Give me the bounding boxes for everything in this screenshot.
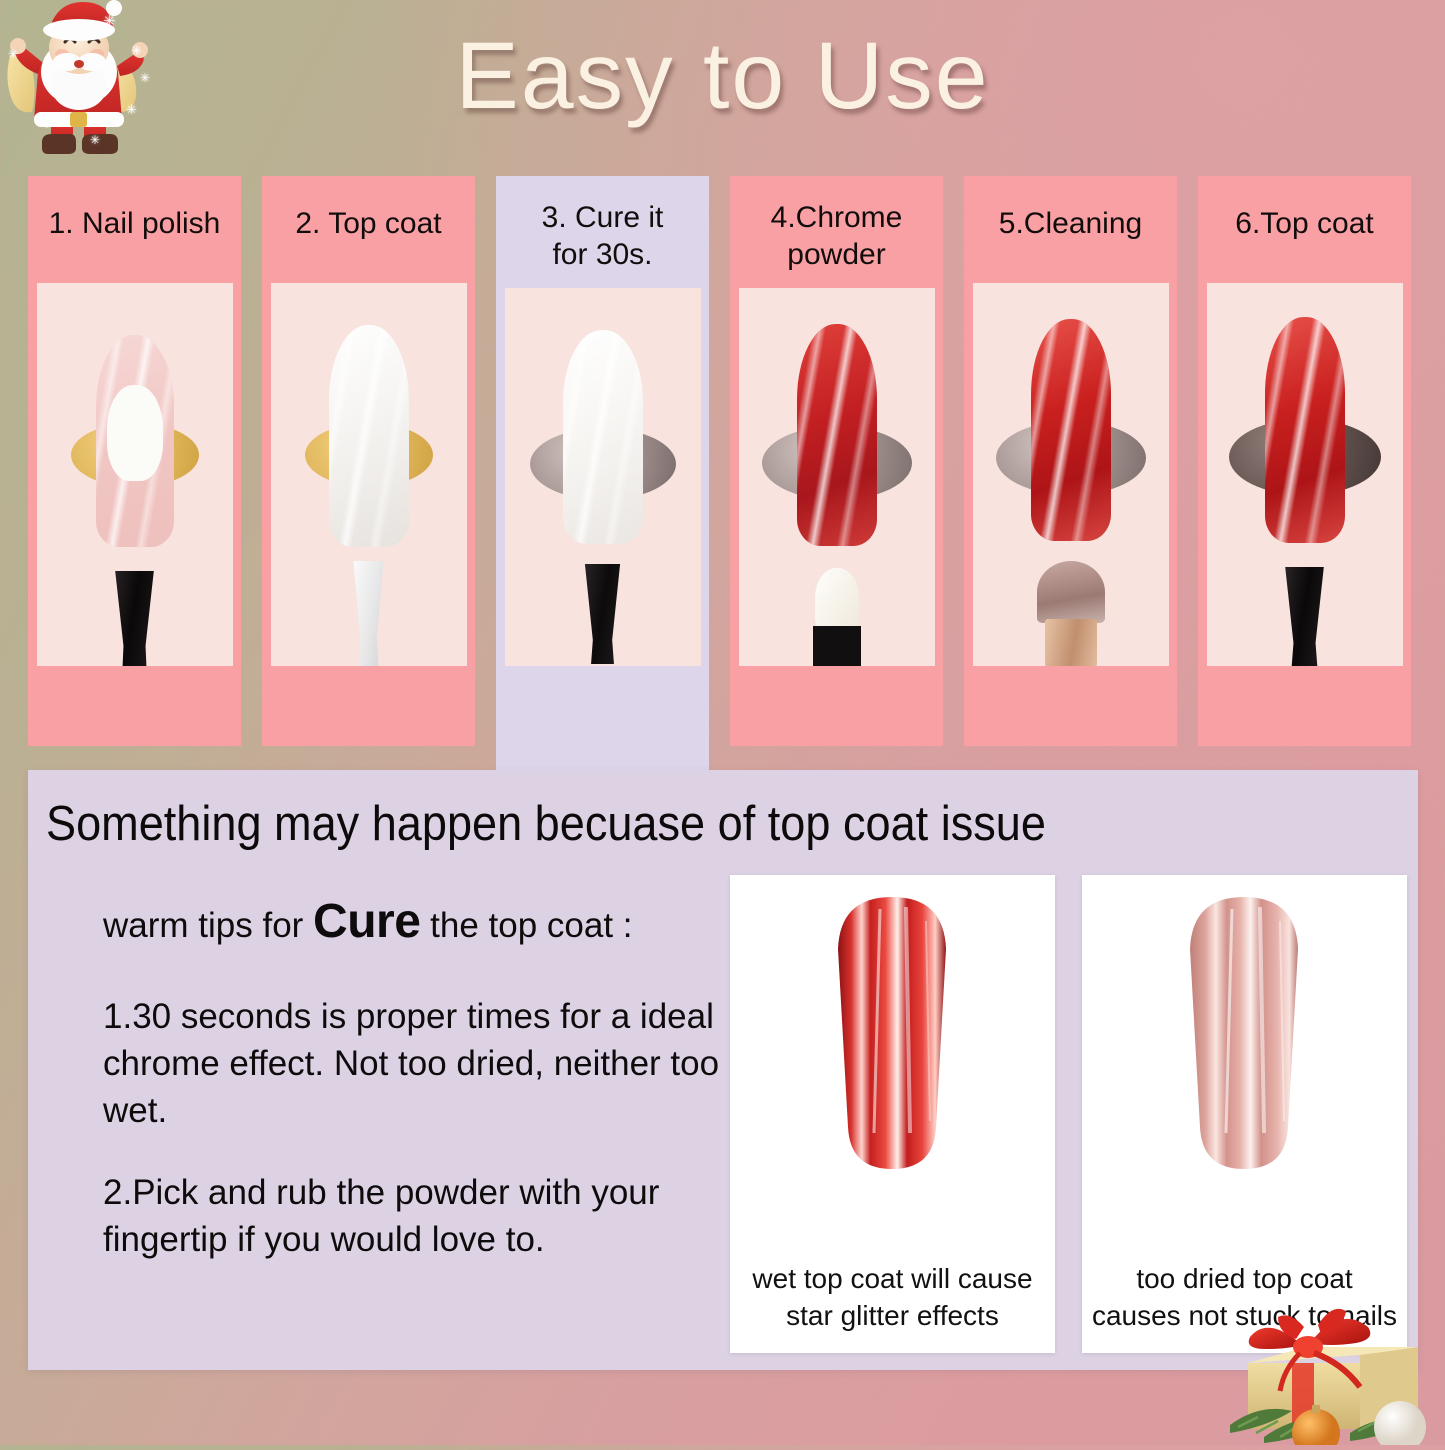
step-label: 6.Top coat: [1198, 176, 1411, 243]
step-card-3[interactable]: 3. Cure it for 30s.: [496, 176, 709, 770]
comparison-card-wet[interactable]: wet top coat will cause star glitter eff…: [730, 875, 1055, 1353]
step-label: 3. Cure it for 30s.: [496, 176, 709, 273]
nail-tip-icon: [1265, 317, 1345, 543]
tips-lead-after: the top coat :: [420, 906, 632, 945]
step-photo: [37, 283, 233, 666]
tip-item-2: 2.Pick and rub the powder with your fing…: [103, 1169, 723, 1264]
snowflake-icon: ✳: [90, 134, 100, 146]
step-label: 4.Chrome powder: [730, 176, 943, 273]
step-photo: [973, 283, 1169, 666]
powder-applicator-icon: [811, 568, 863, 666]
dusting-brush-icon: [1031, 561, 1111, 666]
tips-lead-before: warm tips for: [103, 906, 313, 945]
nail-tip-icon: [797, 324, 877, 546]
step-photo: [1207, 283, 1403, 666]
step-label: 5.Cleaning: [964, 176, 1177, 243]
comparison-caption: wet top coat will cause star glitter eff…: [730, 1261, 1055, 1335]
step-photo: [271, 283, 467, 666]
step-card-6[interactable]: 6.Top coat: [1198, 176, 1411, 746]
step-photo: [505, 288, 701, 666]
step-card-5[interactable]: 5.Cleaning: [964, 176, 1177, 746]
step-card-4[interactable]: 4.Chrome powder: [730, 176, 943, 746]
tips-block: warm tips for Cure the top coat : 1.30 s…: [103, 890, 723, 1297]
nail-tip-icon: [563, 330, 643, 544]
step-photo: [739, 288, 935, 666]
brush-handle-icon: [348, 561, 390, 666]
tip-item-1: 1.30 seconds is proper times for a ideal…: [103, 993, 723, 1135]
polish-brush-handle-icon: [1282, 567, 1328, 666]
top-coat-issue-panel: Something may happen becuase of top coat…: [28, 770, 1418, 1370]
nail-tip-icon: [329, 325, 409, 547]
tips-lead: warm tips for Cure the top coat :: [103, 890, 723, 955]
step-label: 2. Top coat: [262, 176, 475, 243]
step-card-2[interactable]: 2. Top coat: [262, 176, 475, 746]
steps-row: 1. Nail polish 2. Top coat 3. Cure it fo…: [28, 176, 1418, 770]
step-card-1[interactable]: 1. Nail polish: [28, 176, 241, 746]
brush-handle-icon: [581, 564, 625, 664]
panel-heading: Something may happen becuase of top coat…: [46, 796, 1297, 852]
nail-tip-icon: [1031, 319, 1111, 541]
cure-emphasis: Cure: [313, 895, 420, 948]
page-title: Easy to Use: [0, 22, 1445, 131]
step-label: 1. Nail polish: [28, 176, 241, 243]
polish-brush-handle-icon: [112, 571, 158, 666]
christmas-gift-box-icon: [1230, 1277, 1445, 1445]
